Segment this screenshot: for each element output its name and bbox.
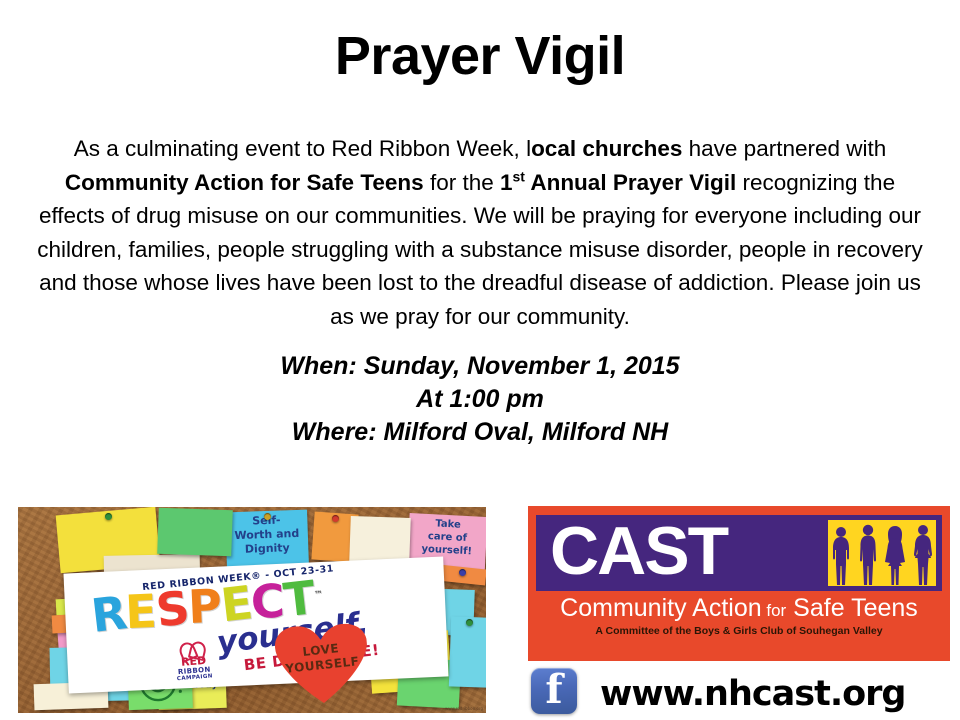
- respect-yourself-banner: RED RIBBON WEEK® - OCT 23-31 RESPECT™ yo…: [63, 556, 448, 693]
- page-title: Prayer Vigil: [0, 28, 960, 85]
- facebook-f-glyph: f: [531, 666, 577, 714]
- pushpin-icon: [105, 513, 112, 520]
- poster-credit-text: www.redribbon.org: [445, 706, 483, 711]
- respect-trademark-icon: ™: [313, 590, 322, 601]
- cast-tagline-for: for: [766, 601, 786, 620]
- teen-silhouette-2: [857, 524, 879, 586]
- paragraph-bold-annual-prayer-vigil: Annual Prayer Vigil: [525, 170, 736, 195]
- cast-tagline: Community Action for Safe Teens: [528, 592, 950, 627]
- event-detail-where: Where: Milford Oval, Milford NH: [30, 416, 930, 449]
- pushpin-icon: [466, 619, 473, 626]
- paragraph-bold-local-churches: ocal churches: [531, 136, 682, 161]
- website-url[interactable]: www.nhcast.org: [600, 674, 950, 714]
- cast-logo-purple-band: CAST: [536, 515, 942, 591]
- sticky-note-line: Dignity: [226, 541, 308, 558]
- respect-letter-s-2: S: [153, 580, 191, 637]
- sticky-note-line: Worth and: [226, 527, 308, 544]
- paragraph-bold-cast-name: Community Action for Safe Teens: [65, 170, 424, 195]
- sticky-note-blank: [349, 516, 411, 564]
- teen-silhouettes-panel: [828, 520, 936, 586]
- sticky-note-line: yourself!: [407, 542, 486, 559]
- sticky-note-blank: [449, 616, 486, 687]
- pushpin-icon: [264, 513, 271, 520]
- cast-tagline-main: Community Action: [560, 594, 761, 622]
- teen-silhouette-3: [883, 526, 907, 586]
- flyer-slide: Prayer Vigil As a culminating event to R…: [0, 0, 960, 720]
- paragraph-part-1: As a culminating event to Red Ribbon Wee…: [74, 136, 531, 161]
- respect-letter-r-0: R: [88, 585, 128, 643]
- paragraph-part-2: have partnered with: [682, 136, 886, 161]
- paragraph-ordinal-suffix: st: [513, 168, 525, 184]
- paragraph-bold-ordinal-number: 1: [500, 170, 513, 195]
- cast-acronym: CAST: [550, 513, 727, 589]
- red-ribbon-icon: [179, 641, 206, 657]
- red-ribbon-week-poster-image: BE CONFIDENT!Be Strong!Be Resilient!Self…: [18, 507, 486, 713]
- body-paragraph: As a culminating event to Red Ribbon Wee…: [30, 132, 930, 333]
- cast-logo: CAST Community Action for Safe Teens A C…: [528, 506, 950, 661]
- teen-silhouette-4: [912, 524, 934, 586]
- red-ribbon-campaign-logo: RED RIBBON CAMPAIGN: [160, 639, 227, 684]
- love-yourself-heart-cutout: LOVEYOURSELF: [274, 623, 370, 708]
- teen-silhouette-1: [830, 526, 852, 586]
- pushpin-icon: [332, 515, 339, 522]
- respect-letter-e-1: E: [125, 584, 158, 639]
- paragraph-part-3: for the: [424, 170, 500, 195]
- cast-logo-orange-band: Community Action for Safe Teens A Commit…: [528, 592, 950, 652]
- event-detail-time: At 1:00 pm: [30, 383, 930, 416]
- cast-tagline-end: Safe Teens: [793, 594, 918, 622]
- event-details: When: Sunday, November 1, 2015 At 1:00 p…: [30, 350, 930, 449]
- event-detail-when: When: Sunday, November 1, 2015: [30, 350, 930, 383]
- pushpin-icon: [459, 569, 466, 576]
- sticky-note-blank: [157, 508, 233, 557]
- cast-committee-line: A Committee of the Boys & Girls Club of …: [528, 625, 950, 638]
- facebook-icon[interactable]: f: [531, 668, 577, 714]
